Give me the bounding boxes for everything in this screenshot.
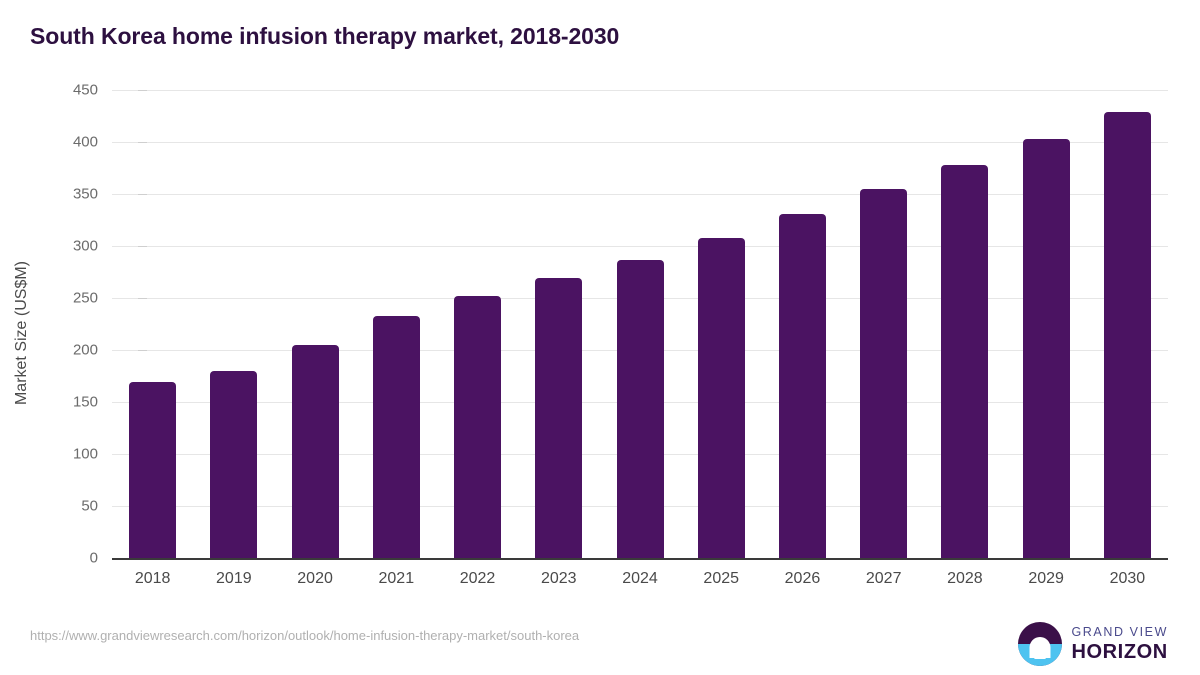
bar-2024[interactable] (617, 260, 664, 558)
x-tick-label: 2029 (1006, 570, 1087, 588)
bar-2028[interactable] (941, 165, 988, 558)
y-tick-label: 250 (38, 290, 98, 307)
x-tick-label: 2030 (1087, 570, 1168, 588)
bar-2026[interactable] (779, 214, 826, 558)
bar-2030[interactable] (1104, 112, 1151, 558)
x-tick-label: 2019 (193, 570, 274, 588)
y-tick-label: 300 (38, 238, 98, 255)
brand-logo[interactable]: GRAND VIEW HORIZON (1018, 622, 1168, 666)
bar-2020[interactable] (292, 345, 339, 558)
bar-2023[interactable] (535, 278, 582, 558)
y-tick-label: 0 (38, 550, 98, 567)
x-tick-label: 2024 (599, 570, 680, 588)
bar-2029[interactable] (1023, 139, 1070, 558)
source-url[interactable]: https://www.grandviewresearch.com/horizo… (30, 628, 579, 643)
y-tick-label: 200 (38, 342, 98, 359)
icon-ray-upper (1031, 651, 1050, 654)
y-tick-label: 50 (38, 498, 98, 515)
y-tick-label: 100 (38, 446, 98, 463)
x-tick-label: 2020 (274, 570, 355, 588)
y-tick-label: 400 (38, 134, 98, 151)
x-tick-label: 2018 (112, 570, 193, 588)
x-axis-line (112, 558, 1168, 560)
bar-2025[interactable] (698, 238, 745, 558)
bar-series (112, 90, 1168, 558)
plot-area: 050100150200250300350400450 Market Size … (0, 0, 1200, 675)
y-axis-title: Market Size (US$M) (13, 133, 31, 533)
bar-2027[interactable] (860, 189, 907, 558)
bar-2018[interactable] (129, 382, 176, 558)
y-axis-ticks: 050100150200250300350400450 (34, 0, 98, 675)
x-tick-label: 2026 (762, 570, 843, 588)
x-tick-label: 2021 (356, 570, 437, 588)
chart-card: South Korea home infusion therapy market… (0, 0, 1200, 675)
y-tick-label: 150 (38, 394, 98, 411)
x-tick-label: 2023 (518, 570, 599, 588)
logo-line-1: GRAND VIEW (1071, 626, 1168, 639)
bar-2019[interactable] (210, 371, 257, 558)
logo-wordmark: GRAND VIEW HORIZON (1071, 626, 1168, 663)
bar-2022[interactable] (454, 296, 501, 558)
x-tick-label: 2022 (437, 570, 518, 588)
x-tick-label: 2025 (681, 570, 762, 588)
x-tick-label: 2028 (924, 570, 1005, 588)
icon-ray-lower (1034, 656, 1046, 659)
y-tick-label: 350 (38, 186, 98, 203)
icon-sun-shape (1030, 637, 1051, 658)
sunrise-icon (1018, 622, 1062, 666)
bar-2021[interactable] (373, 316, 420, 558)
x-tick-label: 2027 (843, 570, 924, 588)
logo-line-2: HORIZON (1071, 642, 1168, 662)
y-tick-label: 450 (38, 82, 98, 99)
